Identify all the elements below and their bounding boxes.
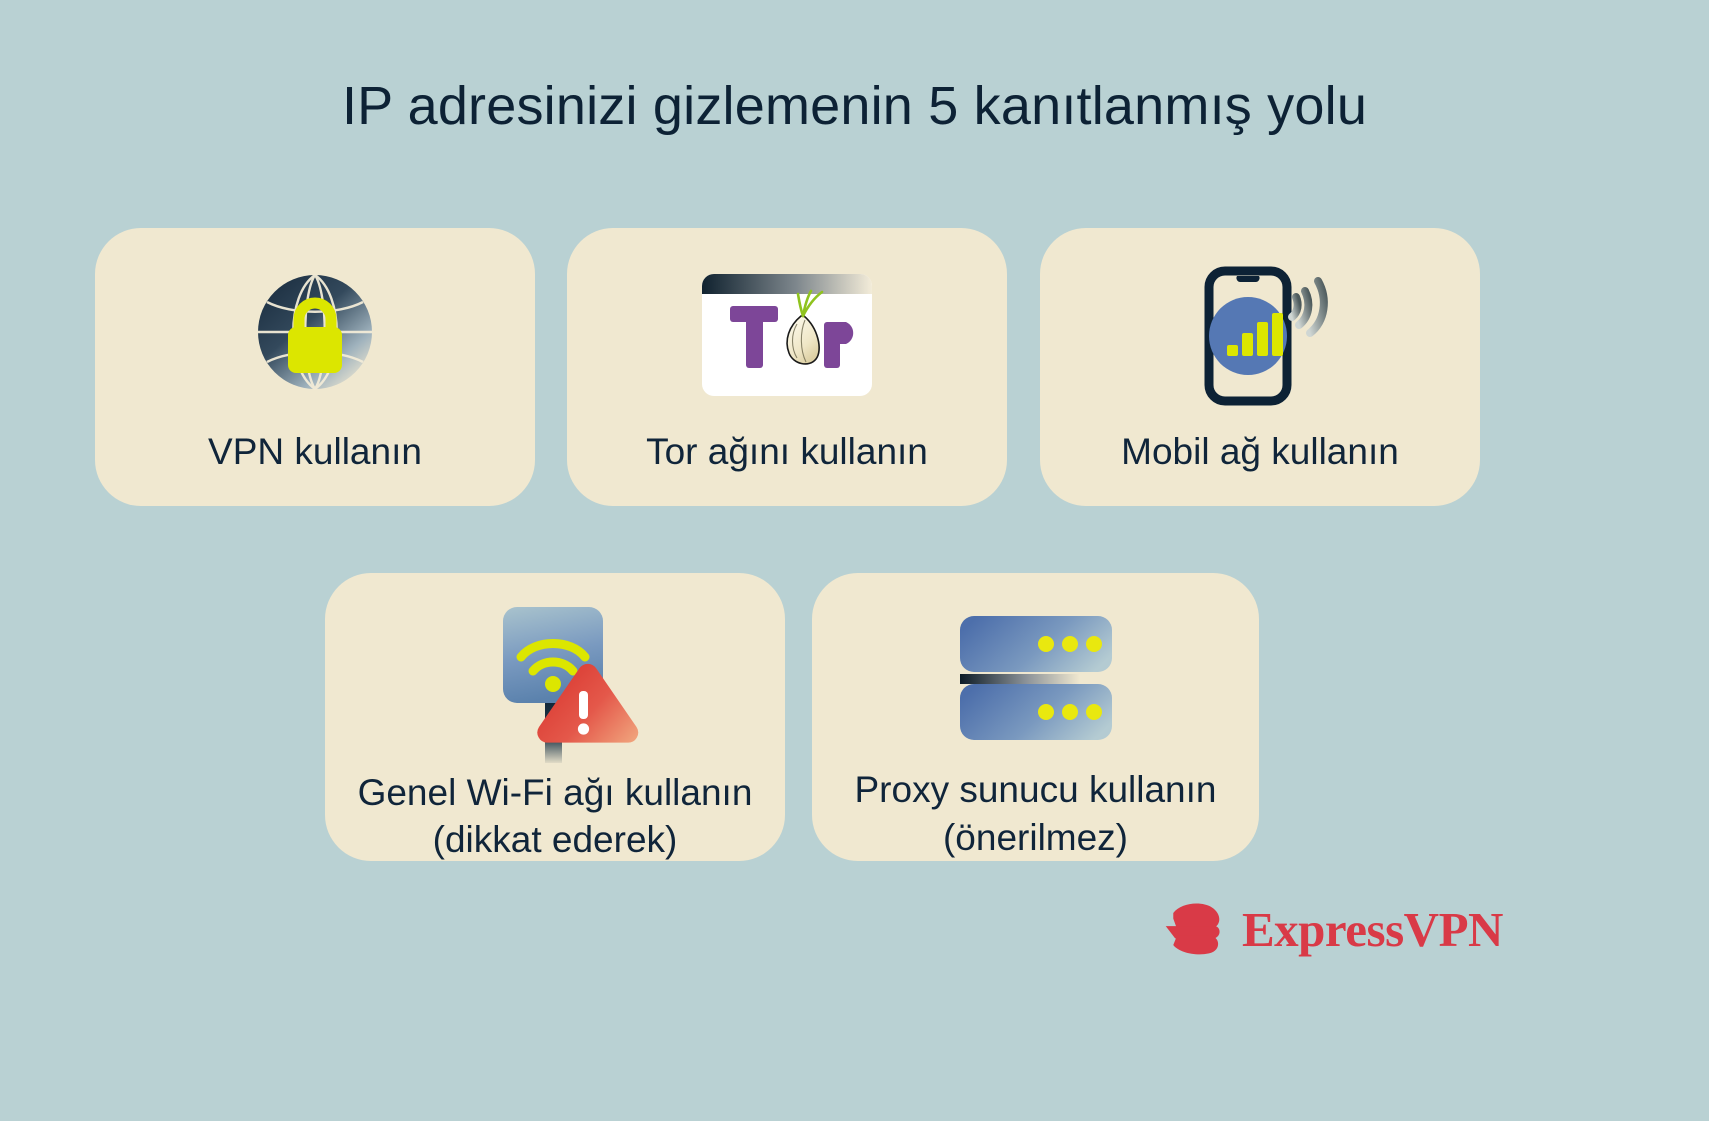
- card-public-wifi[interactable]: Genel Wi-Fi ağı kullanın (dikkat ederek): [325, 573, 785, 861]
- expressvpn-wordmark: ExpressVPN: [1242, 905, 1503, 954]
- card-label-vpn: VPN kullanın: [95, 428, 535, 475]
- proxy-server-svg: [936, 598, 1136, 758]
- card-tor[interactable]: Tor ağını kullanın: [567, 228, 1007, 506]
- card-label-mobile-network: Mobil ağ kullanın: [1040, 428, 1480, 475]
- public-wifi-warning-svg: [455, 595, 655, 763]
- card-label-line1: VPN kullanın: [95, 428, 535, 475]
- card-vpn[interactable]: VPN kullanın: [95, 228, 535, 506]
- card-label-line1: Mobil ağ kullanın: [1040, 428, 1480, 475]
- card-label-proxy-server: Proxy sunucu kullanın (önerilmez): [812, 766, 1259, 861]
- card-mobile-network[interactable]: Mobil ağ kullanın: [1040, 228, 1480, 506]
- expressvpn-logo[interactable]: ExpressVPN: [1160, 898, 1503, 960]
- card-label-tor: Tor ağını kullanın: [567, 428, 1007, 475]
- infographic-page: IP adresinizi gizlemenin 5 kanıtlanmış y…: [0, 0, 1709, 1121]
- proxy-server-icon: [812, 595, 1259, 760]
- public-wifi-warning-icon: [325, 595, 785, 763]
- mobile-signal-icon: [1040, 254, 1480, 414]
- card-label-line1: Genel Wi-Fi ağı kullanın: [325, 769, 785, 816]
- expressvpn-e-mark-icon: [1160, 898, 1226, 960]
- card-label-line1: Tor ağını kullanın: [567, 428, 1007, 475]
- tor-browser-icon: [567, 254, 1007, 414]
- card-proxy-server[interactable]: Proxy sunucu kullanın (önerilmez): [812, 573, 1259, 861]
- tor-browser-svg: [692, 264, 882, 404]
- card-label-line2: (önerilmez): [812, 814, 1259, 861]
- card-label-line2: (dikkat ederek): [325, 816, 785, 863]
- mobile-signal-svg: [1165, 259, 1355, 409]
- globe-lock-icon: [95, 254, 535, 414]
- globe-lock-svg: [240, 259, 390, 409]
- card-label-public-wifi: Genel Wi-Fi ağı kullanın (dikkat ederek): [325, 769, 785, 864]
- card-label-line1: Proxy sunucu kullanın: [812, 766, 1259, 813]
